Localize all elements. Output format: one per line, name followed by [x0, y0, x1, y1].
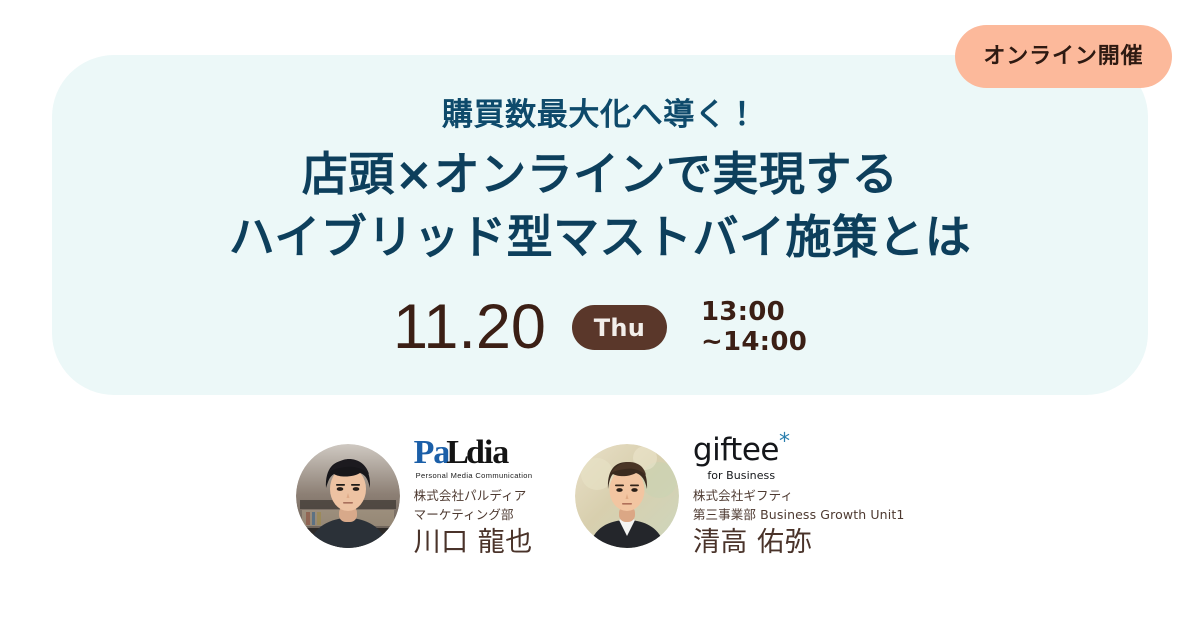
speaker-department: 第三事業部 Business Growth Unit1 [693, 505, 905, 524]
speakers-section: PaLdia Personal Media Communication 株式会社… [0, 426, 1200, 559]
paldia-wordmark-pa: Pa [414, 434, 450, 471]
logo-area: PaLdia Personal Media Communication [414, 430, 533, 486]
event-date: 11.20 [393, 296, 546, 359]
speaker-company: 株式会社パルディア [414, 486, 533, 505]
logo-area: giftee* for Business [693, 430, 905, 486]
paldia-wordmark-dia: dia [466, 434, 508, 471]
weekday-label: Thu [594, 316, 645, 340]
event-time-start: 13:00 [701, 298, 807, 327]
title-block: 購買数最大化へ導く！ 店頭×オンラインで実現する ハイブリッド型マストバイ施策と… [52, 96, 1148, 270]
page-title: 店頭×オンラインで実現する ハイブリッド型マストバイ施策とは [52, 143, 1148, 270]
speaker-photo-kiyotaka [575, 444, 679, 548]
giftee-asterisk-icon: * [779, 430, 790, 455]
speaker-name: 川口 龍也 [414, 527, 533, 559]
speaker-photo-kawaguchi [296, 444, 400, 548]
paldia-wordmark: PaLdia [414, 436, 533, 469]
online-event-badge-label: オンライン開催 [983, 46, 1143, 68]
paldia-tagline: Personal Media Communication [416, 472, 533, 480]
online-event-badge: オンライン開催 [955, 25, 1172, 88]
speaker-card: giftee* for Business 株式会社ギフティ 第三事業部 Busi… [575, 426, 905, 559]
title-lead: 購買数最大化へ導く！ [52, 96, 1148, 135]
weekday-pill: Thu [572, 305, 667, 350]
webinar-banner: オンライン開催 購買数最大化へ導く！ 店頭×オンラインで実現する ハイブリッド型… [0, 0, 1200, 630]
event-time-end: ~14:00 [701, 328, 807, 357]
title-line-2: ハイブリッド型マストバイ施策とは [52, 206, 1148, 269]
title-line-1: 店頭×オンラインで実現する [52, 143, 1148, 206]
speaker-info: giftee* for Business 株式会社ギフティ 第三事業部 Busi… [693, 426, 905, 559]
schedule-row: 11.20 Thu 13:00 ~14:00 [52, 296, 1148, 359]
giftee-wordmark-text: giftee [693, 432, 779, 468]
speaker-card: PaLdia Personal Media Communication 株式会社… [296, 426, 533, 559]
giftee-tagline: for Business [707, 470, 775, 481]
speaker-name: 清高 佑弥 [693, 527, 905, 559]
event-time: 13:00 ~14:00 [701, 298, 807, 356]
paldia-logo: PaLdia Personal Media Communication [414, 436, 533, 480]
speaker-info: PaLdia Personal Media Communication 株式会社… [414, 426, 533, 559]
paldia-wordmark-l: L [446, 434, 468, 471]
speaker-company: 株式会社ギフティ [693, 486, 905, 505]
giftee-wordmark: giftee* [693, 435, 790, 466]
giftee-logo: giftee* for Business [693, 435, 790, 481]
speaker-department: マーケティング部 [414, 505, 533, 524]
